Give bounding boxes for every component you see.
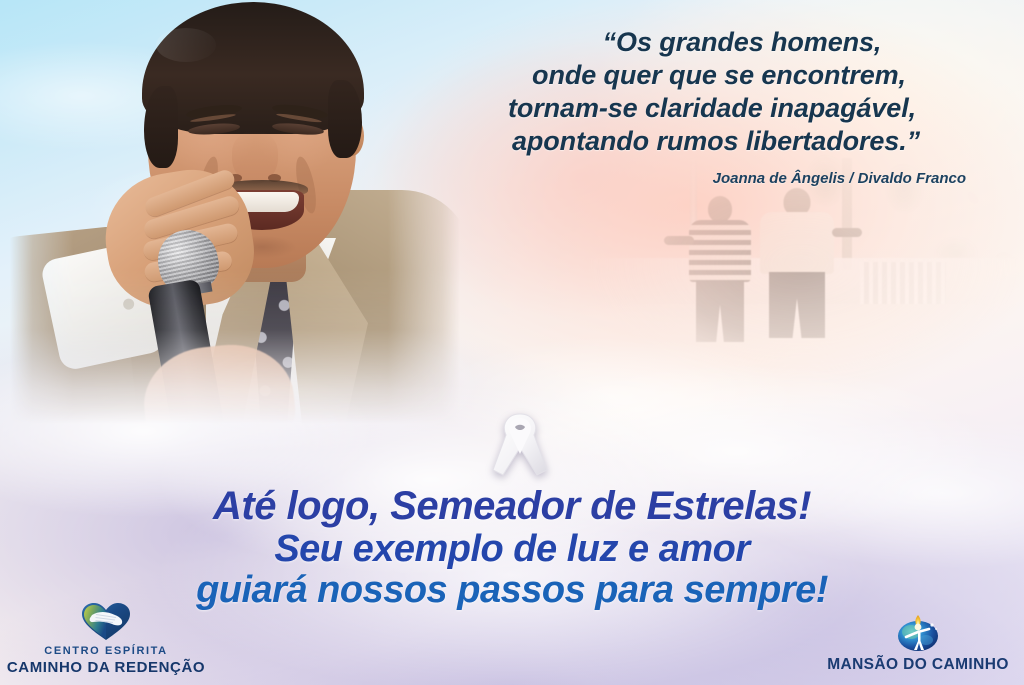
quote-attribution: Joanna de Ângelis / Divaldo Franco: [440, 170, 984, 187]
quote-line-1: “Os grandes homens,: [440, 26, 984, 59]
globe-figure-flame-icon: [892, 609, 944, 653]
quote-line-3: tornam-se claridade inapagável,: [440, 92, 984, 125]
logo-left-line-1: CENTRO ESPÍRITA: [6, 645, 206, 659]
quote-block: “Os grandes homens, onde quer que se enc…: [440, 26, 984, 187]
headline-line-1: Até logo, Semeador de Estrelas!: [0, 486, 1024, 528]
white-fence: [860, 262, 946, 304]
figure-torso: [689, 220, 751, 282]
logo-left-line-2: CAMINHO DA REDENÇÃO: [6, 659, 206, 677]
logo-mansao-do-caminho[interactable]: MANSÃO DO CAMINHO: [818, 609, 1018, 675]
figure-head: [708, 196, 732, 222]
walking-child-figure: [688, 196, 752, 336]
logo-centro-espirita-caminho-da-redencao[interactable]: CENTRO ESPÍRITA CAMINHO DA REDENÇÃO: [6, 602, 206, 677]
headline-block: Até logo, Semeador de Estrelas! Seu exem…: [0, 486, 1024, 611]
logo-right-line-2: MANSÃO DO CAMINHO: [818, 656, 1018, 675]
background-photo-scene: [560, 150, 1024, 420]
portrait-divaldo-franco: [10, 0, 460, 424]
figure-arm: [664, 236, 694, 245]
white-ribbon-icon: [487, 408, 553, 482]
quote-line-4: apontando rumos libertadores.”: [440, 125, 984, 158]
figure-torso: [760, 212, 834, 274]
walking-adult-figure: [758, 188, 836, 338]
figure-legs: [696, 280, 744, 342]
figure-legs: [769, 272, 825, 338]
quote-line-2: onde quer que se encontrem,: [440, 59, 984, 92]
memorial-banner: “Os grandes homens, onde quer que se enc…: [0, 0, 1024, 685]
sideburn-left: [144, 86, 178, 168]
figure-arm: [832, 228, 862, 237]
headline-line-2: Seu exemplo de luz e amor: [0, 530, 1024, 570]
heart-hands-icon: [80, 602, 132, 642]
